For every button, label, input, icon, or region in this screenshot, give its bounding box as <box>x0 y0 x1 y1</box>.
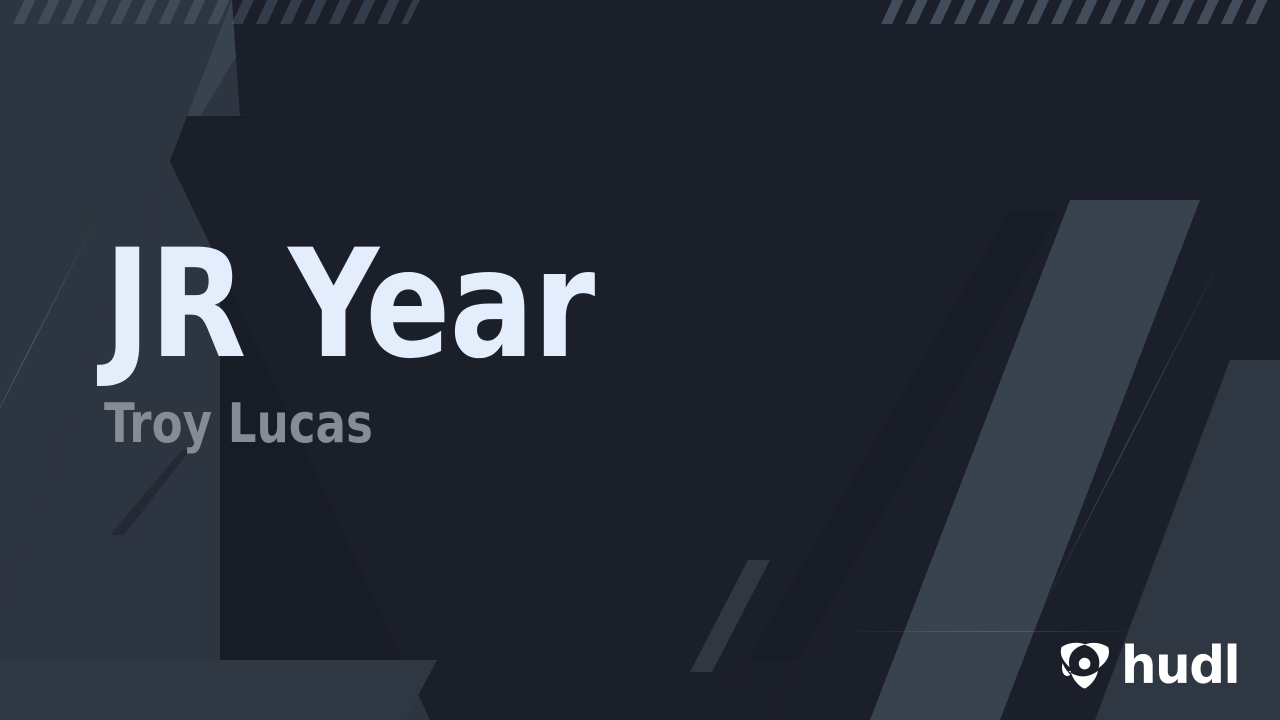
bg-hatch-bottom-left <box>0 0 420 24</box>
title-card: JR Year Troy Lucas hudl <box>0 0 1280 720</box>
page-subtitle: Troy Lucas <box>104 397 941 451</box>
hudl-wordmark: hudl <box>1121 640 1239 692</box>
bg-hatch-top-right <box>868 0 1280 24</box>
title-block: JR Year Troy Lucas <box>104 232 1004 451</box>
hudl-shield-icon <box>1059 641 1111 691</box>
page-title: JR Year <box>104 232 941 379</box>
bg-hairline-horizontal <box>840 631 1140 632</box>
hudl-logo: hudl <box>1059 640 1244 692</box>
